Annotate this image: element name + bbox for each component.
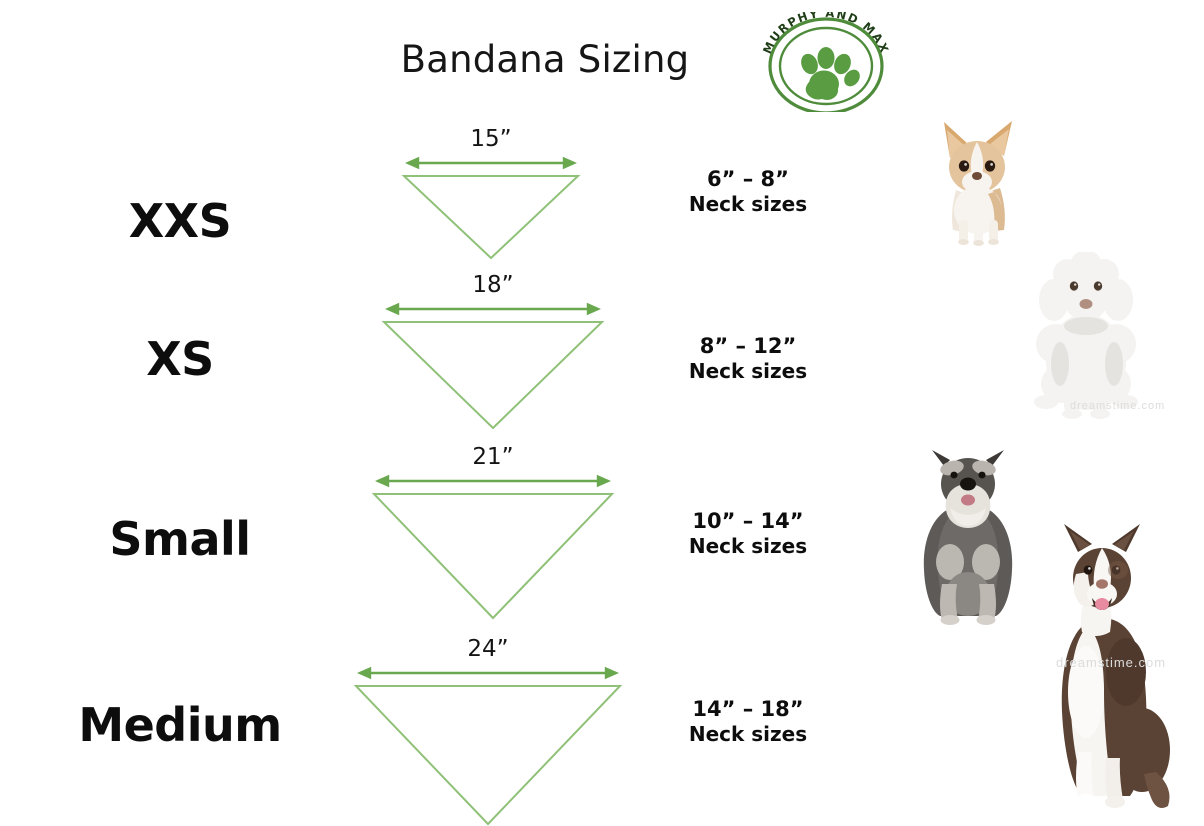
dimension-arrow-xxs — [408, 159, 574, 168]
neck-size-xs: 8” – 12” Neck sizes — [648, 333, 848, 384]
dimension-arrow-medium — [360, 669, 616, 678]
neck-size-medium: 14” – 18” Neck sizes — [648, 696, 848, 747]
neck-range-medium: 14” – 18” — [648, 696, 848, 722]
dog-photo-schnauzer — [898, 444, 1038, 626]
neck-size-xxs: 6” – 8” Neck sizes — [648, 166, 848, 217]
neck-range-xs: 8” – 12” — [648, 333, 848, 359]
size-label-small: Small — [45, 512, 315, 566]
neck-caption-medium: Neck sizes — [648, 722, 848, 747]
bandana-triangle-xs — [384, 322, 602, 428]
bandana-diagram-xxs: 15” — [398, 126, 584, 261]
dim-label-small: 21” — [368, 444, 618, 470]
bandana-diagram-medium: 24” — [350, 636, 626, 826]
size-label-medium: Medium — [30, 698, 330, 752]
photo-watermark-collie: dreamstime.com — [1056, 655, 1166, 670]
page-title: Bandana Sizing — [0, 38, 1090, 81]
neck-size-small: 10” – 14” Neck sizes — [648, 508, 848, 559]
size-label-xxs: XXS — [60, 194, 300, 248]
neck-caption-xs: Neck sizes — [648, 359, 848, 384]
size-label-xs: XS — [60, 332, 300, 386]
neck-caption-small: Neck sizes — [648, 534, 848, 559]
sizing-chart-canvas: Bandana Sizing MURPHY AND MAX — [0, 0, 1204, 822]
paw-print-icon — [798, 47, 863, 100]
dimension-arrow-xs — [388, 305, 598, 314]
neck-caption-xxs: Neck sizes — [648, 192, 848, 217]
dog-photo-poodle — [1016, 252, 1156, 424]
neck-range-xxs: 6” – 8” — [648, 166, 848, 192]
photo-watermark-poodle: dreamstime.com — [1070, 400, 1165, 412]
dim-label-xs: 18” — [378, 272, 608, 298]
bandana-diagram-xs: 18” — [378, 272, 608, 432]
bandana-triangle-xxs — [404, 176, 578, 258]
neck-range-small: 10” – 14” — [648, 508, 848, 534]
bandana-triangle-medium — [356, 686, 620, 824]
dim-label-xxs: 15” — [398, 126, 584, 152]
dim-label-medium: 24” — [350, 636, 626, 662]
bandana-diagram-small: 21” — [368, 444, 618, 624]
bandana-triangle-small — [374, 494, 612, 618]
dog-photo-chihuahua — [926, 112, 1032, 246]
dimension-arrow-small — [378, 477, 608, 486]
brand-logo: MURPHY AND MAX — [745, 12, 907, 112]
